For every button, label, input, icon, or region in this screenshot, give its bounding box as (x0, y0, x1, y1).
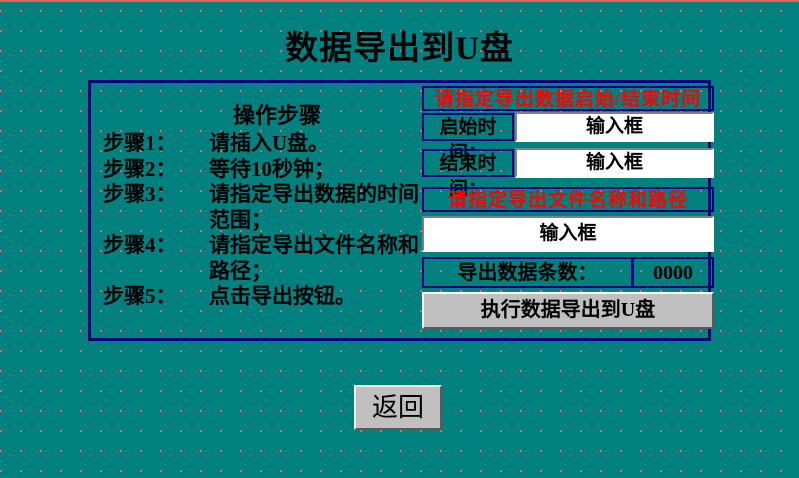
export-controls-panel: 请指定导出数据启始/结束时间 启始时间： 输入框 结束时间： 输入框 请指定导出… (422, 83, 714, 338)
file-path-header: 请指定导出文件名称和路径 (422, 187, 714, 212)
step-item-5: 步骤5： 点击导出按钮。 (103, 284, 433, 310)
step-label-2: 步骤2： (103, 157, 209, 183)
hmi-screen: 数据导出到U盘 操作步骤 步骤1： 请插入U盘。 步骤2： 等待10秒钟； 步骤… (0, 0, 799, 478)
start-time-input[interactable]: 输入框 (515, 112, 714, 142)
step-item-4: 步骤4： 请指定导出文件名称和路径； (103, 233, 433, 284)
steps-heading: 操作步骤 (121, 103, 433, 129)
step-text-2: 等待10秒钟； (209, 157, 433, 183)
step-item-3: 步骤3： 请指定导出数据的时间范围； (103, 182, 433, 233)
main-panel: 操作步骤 步骤1： 请插入U盘。 步骤2： 等待10秒钟； 步骤3： 请指定导出… (88, 80, 711, 341)
step-text-4: 请指定导出文件名称和路径； (209, 233, 433, 284)
back-button[interactable]: 返回 (354, 385, 442, 430)
file-path-input[interactable]: 输入框 (422, 216, 714, 252)
step-label-1: 步骤1： (103, 131, 209, 157)
step-text-5: 点击导出按钮。 (209, 284, 433, 310)
step-item-2: 步骤2： 等待10秒钟； (103, 157, 433, 183)
step-item-1: 步骤1： 请插入U盘。 (103, 131, 433, 157)
step-label-4: 步骤4： (103, 233, 209, 259)
time-range-header: 请指定导出数据启始/结束时间 (422, 86, 714, 111)
page-title: 数据导出到U盘 (0, 29, 799, 69)
start-time-label: 启始时间： (422, 113, 514, 141)
end-time-label: 结束时间： (422, 149, 514, 177)
end-time-input[interactable]: 输入框 (515, 148, 714, 178)
top-accent-rule (0, 0, 799, 2)
record-count-value: 0000 (632, 257, 714, 288)
step-text-1: 请插入U盘。 (209, 131, 433, 157)
step-label-3: 步骤3： (103, 182, 209, 208)
export-to-usb-button[interactable]: 执行数据导出到U盘 (422, 292, 714, 329)
step-label-5: 步骤5： (103, 284, 209, 310)
step-text-3: 请指定导出数据的时间范围； (209, 182, 433, 233)
steps-panel: 操作步骤 步骤1： 请插入U盘。 步骤2： 等待10秒钟； 步骤3： 请指定导出… (103, 103, 433, 310)
record-count-label: 导出数据条数： (422, 257, 633, 288)
